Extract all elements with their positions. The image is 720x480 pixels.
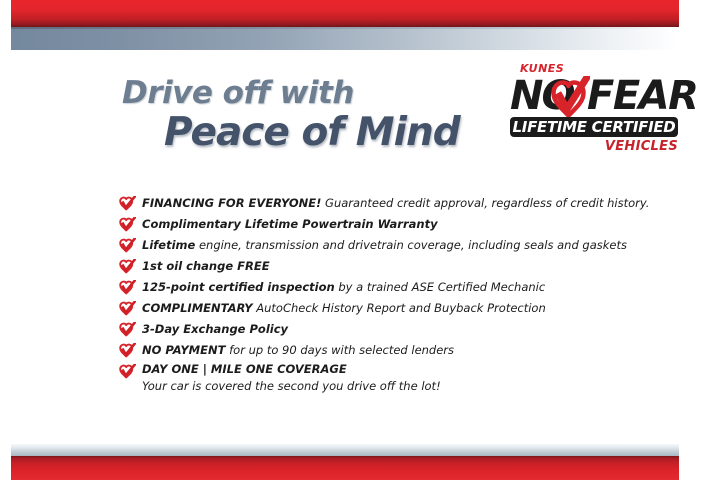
bottom-red-bar bbox=[11, 456, 679, 480]
heart-check-icon bbox=[118, 364, 136, 379]
benefit-text: 1st oil change FREE bbox=[142, 256, 658, 277]
benefit-text: FINANCING FOR EVERYONE! Guaranteed credi… bbox=[142, 193, 658, 214]
benefit-text: Lifetime engine, transmission and drivet… bbox=[142, 235, 658, 256]
bottom-silver-gradient-bar bbox=[11, 444, 679, 456]
benefit-text: COMPLIMENTARY AutoCheck History Report a… bbox=[142, 298, 658, 319]
benefit-text-bold: DAY ONE | MILE ONE COVERAGE bbox=[142, 362, 347, 376]
benefit-text-bold: NO PAYMENT bbox=[142, 343, 225, 357]
benefits-list: FINANCING FOR EVERYONE! Guaranteed credi… bbox=[118, 193, 658, 395]
logo-no-fear-wordmark: NO FEAR bbox=[508, 75, 680, 117]
heart-check-icon bbox=[118, 280, 136, 295]
benefit-text: DAY ONE | MILE ONE COVERAGE bbox=[142, 361, 658, 378]
heart-check-icon bbox=[118, 322, 136, 337]
heart-check-icon bbox=[118, 217, 136, 232]
benefit-item: NO PAYMENT for up to 90 days with select… bbox=[118, 340, 658, 361]
benefit-text-bold: Lifetime bbox=[142, 238, 195, 252]
heart-check-icon bbox=[546, 76, 590, 118]
benefit-text-bold: 125-point certified inspection bbox=[142, 280, 335, 294]
heart-check-icon bbox=[118, 301, 136, 316]
logo-word-fear: FEAR bbox=[587, 75, 697, 117]
benefit-text: 125-point certified inspection by a trai… bbox=[142, 277, 658, 298]
benefit-text-normal: for up to 90 days with selected lenders bbox=[225, 343, 454, 357]
logo-suffix-vehicles: VEHICLES bbox=[605, 139, 678, 154]
kunes-no-fear-banner: Drive off with Peace of Mind KUNES NO FE… bbox=[0, 0, 720, 480]
benefit-subtext: Your car is covered the second you drive… bbox=[142, 378, 658, 394]
benefit-text: NO PAYMENT for up to 90 days with select… bbox=[142, 340, 658, 361]
benefit-text-bold: 3-Day Exchange Policy bbox=[142, 322, 288, 336]
benefit-text-normal: AutoCheck History Report and Buyback Pro… bbox=[253, 301, 546, 315]
no-fear-logo: KUNES NO FEAR LIFETIME CERTIFIED VEHICLE… bbox=[508, 62, 680, 162]
benefit-item: 3-Day Exchange Policy bbox=[118, 319, 658, 340]
benefit-text-normal: by a trained ASE Certified Mechanic bbox=[335, 280, 545, 294]
heart-check-icon bbox=[118, 343, 136, 358]
top-silver-gradient-bar bbox=[11, 27, 679, 50]
benefit-item: Complimentary Lifetime Powertrain Warran… bbox=[118, 214, 658, 235]
headline: Drive off with Peace of Mind bbox=[122, 78, 460, 152]
benefit-item: FINANCING FOR EVERYONE! Guaranteed credi… bbox=[118, 193, 658, 214]
heart-check-icon bbox=[118, 238, 136, 253]
top-red-bar bbox=[11, 0, 679, 27]
benefit-text-bold: FINANCING FOR EVERYONE! bbox=[142, 196, 321, 210]
benefit-item: Lifetime engine, transmission and drivet… bbox=[118, 235, 658, 256]
heart-check-icon bbox=[118, 259, 136, 274]
headline-line-1: Drive off with bbox=[122, 78, 460, 109]
benefit-item: DAY ONE | MILE ONE COVERAGEYour car is c… bbox=[118, 361, 658, 395]
benefit-text: 3-Day Exchange Policy bbox=[142, 319, 658, 340]
benefit-item: COMPLIMENTARY AutoCheck History Report a… bbox=[118, 298, 658, 319]
benefit-text: Complimentary Lifetime Powertrain Warran… bbox=[142, 214, 658, 235]
benefit-item: 1st oil change FREE bbox=[118, 256, 658, 277]
benefit-text-bold: Complimentary Lifetime Powertrain Warran… bbox=[142, 217, 438, 231]
benefit-item: 125-point certified inspection by a trai… bbox=[118, 277, 658, 298]
headline-line-2: Peace of Mind bbox=[164, 113, 460, 152]
benefit-text-normal: Guaranteed credit approval, regardless o… bbox=[321, 196, 649, 210]
benefit-text-normal: engine, transmission and drivetrain cove… bbox=[195, 238, 627, 252]
benefit-text-bold: COMPLIMENTARY bbox=[142, 301, 253, 315]
heart-check-icon bbox=[118, 196, 136, 211]
benefit-text-bold: 1st oil change FREE bbox=[142, 259, 270, 273]
logo-tagline-lifetime-certified: LIFETIME CERTIFIED bbox=[510, 117, 678, 137]
